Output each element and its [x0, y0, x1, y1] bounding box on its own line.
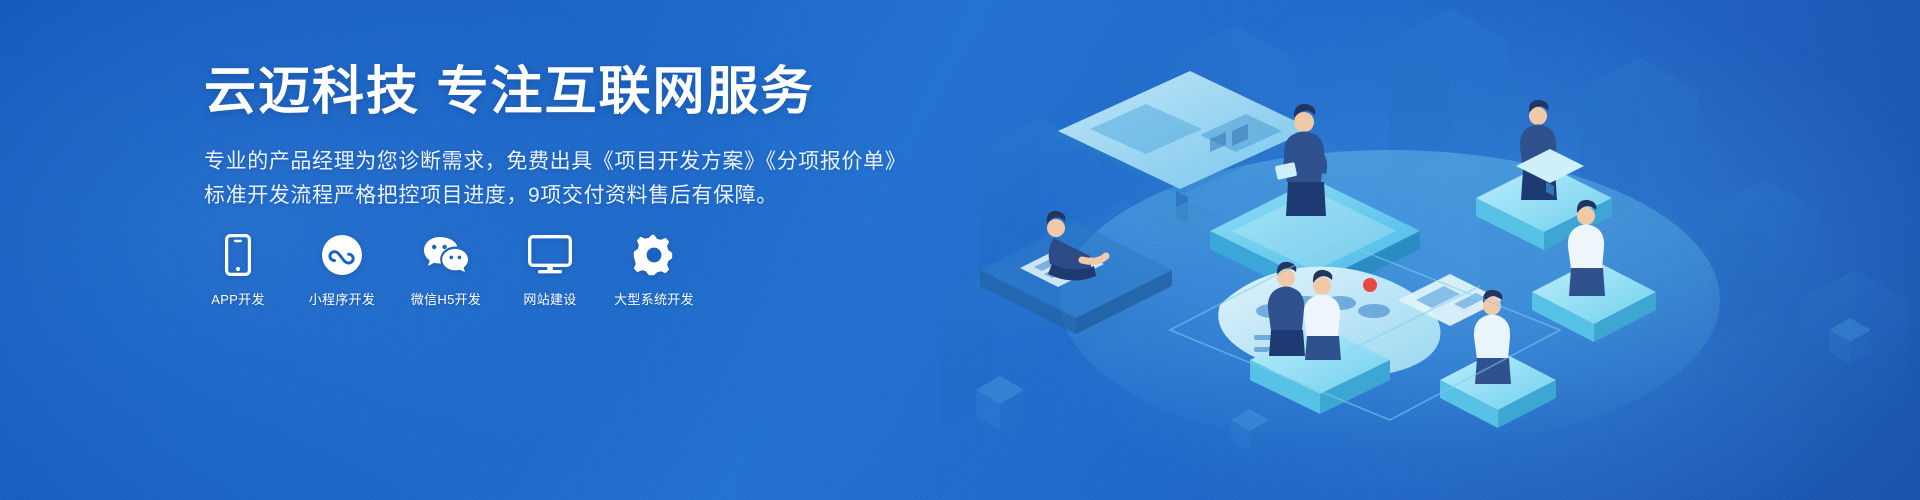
service-label-wechat: 微信H5开发: [411, 289, 481, 308]
subtitle-line-2: 标准开发流程严格把控项目进度，9项交付资料售后有保障。: [204, 179, 924, 213]
service-item-website[interactable]: 网站建设: [512, 232, 588, 308]
monitor-icon: [528, 232, 572, 278]
service-item-wechat[interactable]: 微信H5开发: [408, 232, 484, 308]
banner-text-block: 云迈科技 专注互联网服务 专业的产品经理为您诊断需求，免费出具《项目开发方案》《…: [204, 62, 924, 213]
service-item-app[interactable]: APP开发: [200, 232, 276, 308]
service-list: APP开发 小程序开发 微信: [200, 232, 692, 308]
service-item-system[interactable]: 大型系统开发: [616, 232, 692, 308]
service-label-website: 网站建设: [523, 289, 576, 308]
service-label-system: 大型系统开发: [614, 289, 694, 308]
mini-program-icon: [321, 232, 363, 278]
isometric-illustration: [920, 0, 1920, 500]
subtitle-line-1: 专业的产品经理为您诊断需求，免费出具《项目开发方案》《分项报价单》: [204, 145, 924, 179]
mobile-phone-icon: [225, 232, 251, 278]
service-item-mini-program[interactable]: 小程序开发: [304, 232, 380, 308]
page-title: 云迈科技 专注互联网服务: [204, 62, 924, 123]
wechat-icon: [422, 232, 470, 278]
service-label-mini-program: 小程序开发: [309, 289, 376, 308]
hero-banner: 云迈科技 专注互联网服务 专业的产品经理为您诊断需求，免费出具《项目开发方案》《…: [0, 0, 1920, 500]
banner-subtitle: 专业的产品经理为您诊断需求，免费出具《项目开发方案》《分项报价单》 标准开发流程…: [204, 145, 924, 213]
gear-icon: [633, 232, 675, 278]
service-label-app: APP开发: [211, 289, 265, 308]
